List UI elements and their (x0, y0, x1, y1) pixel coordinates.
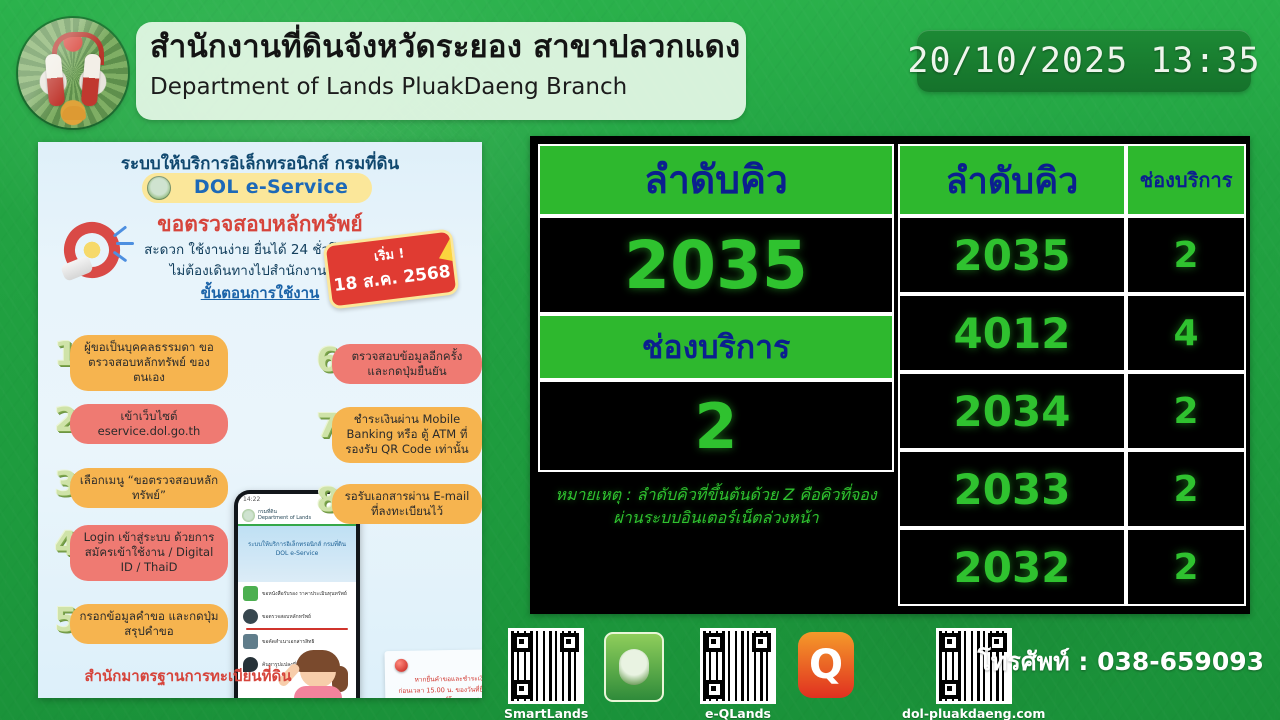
document-icon (243, 586, 258, 601)
phone-status-time: 14:22 (243, 496, 260, 506)
phone-menu-item: ขอหนังสือรับรอง ราคาประเมินทุนทรัพย์ (238, 582, 356, 605)
datetime-display: 20/10/2025 13:35 (917, 30, 1251, 92)
megaphone-icon (56, 218, 134, 288)
step-text: เข้าเว็บไซต์ eservice.dol.go.th (70, 404, 228, 444)
queue-row-counter: 2 (1126, 528, 1246, 606)
now-serving-counter-value: 2 (538, 380, 894, 472)
phone-hero-line-2: DOL e-Service (238, 549, 356, 558)
now-serving-panel: ลำดับคิว 2035 ช่องบริการ 2 หมายเหตุ : ลำ… (538, 144, 894, 610)
contact-phone-number: โทรศัพท์ : 038-659093 (978, 642, 1265, 682)
queue-row-counter: 4 (1126, 294, 1246, 372)
dol-seal-icon (147, 176, 171, 200)
page-footer: SmartLands e-QLands Q dol-pluakdaeng.com (0, 618, 1280, 720)
smartlands-app-icon[interactable] (604, 632, 664, 702)
qr-label: e-QLands (705, 706, 771, 720)
queue-row-number: 2034 (898, 372, 1126, 450)
step-text: เลือกเมนู “ขอตรวจสอบหลักทรัพย์” (70, 468, 228, 508)
qr-label: SmartLands (504, 706, 588, 720)
queue-row-number: 2032 (898, 528, 1126, 606)
qr-code-icon[interactable] (508, 628, 584, 704)
step-text: Login เข้าสู่ระบบ ด้วยการสมัครเข้าใช้งาน… (70, 525, 228, 581)
now-serving-queue-header: ลำดับคิว (538, 144, 894, 216)
qr-label: dol-pluakdaeng.com (902, 706, 1045, 720)
step-text: รอรับเอกสารผ่าน E-mail ที่ลงทะเบียนไว้ (332, 484, 482, 524)
phone-app-logo-icon (242, 509, 255, 522)
queue-board: ลำดับคิว 2035 ช่องบริการ 2 หมายเหตุ : ลำ… (530, 136, 1250, 614)
queue-list-header-queue: ลำดับคิว (898, 144, 1126, 216)
queue-row-number: 2035 (898, 216, 1126, 294)
now-serving-queue-value: 2035 (538, 216, 894, 314)
qr-block-smartlands[interactable]: SmartLands (504, 628, 588, 720)
queue-list-table: ลำดับคิว ช่องบริการ 2035 2 4012 4 2034 2… (898, 144, 1246, 610)
department-of-lands-emblem-icon (18, 18, 128, 128)
queue-row-counter: 2 (1126, 372, 1246, 450)
queue-row-number: 4012 (898, 294, 1126, 372)
page-header: สำนักงานที่ดินจังหวัดระยอง สาขาปลวกแดง D… (0, 0, 1280, 130)
datetime-text: 20/10/2025 13:35 (907, 41, 1260, 81)
qr-code-icon[interactable] (700, 628, 776, 704)
now-serving-counter-header: ช่องบริการ (538, 314, 894, 380)
step-text: ตรวจสอบข้อมูลอีกครั้ง และกดปุ่มยืนยัน (332, 344, 482, 384)
queue-display-screen: สำนักงานที่ดินจังหวัดระยอง สาขาปลวกแดง D… (0, 0, 1280, 720)
eservice-poster: ระบบให้บริการอิเล็กทรอนิกส์ กรมที่ดิน DO… (38, 142, 482, 698)
queue-row-counter: 2 (1126, 450, 1246, 528)
qr-block-eqlands[interactable]: e-QLands (700, 628, 776, 720)
phone-menu-label: ขอหนังสือรับรอง ราคาประเมินทุนทรัพย์ (262, 590, 347, 598)
step-text: ชำระเงินผ่าน Mobile Banking หรือ ตู้ ATM… (332, 407, 482, 463)
queue-list-header-counter: ช่องบริการ (1126, 144, 1246, 216)
poster-brand-pill: DOL e-Service (142, 173, 372, 203)
queue-note: หมายเหตุ : ลำดับคิวที่ขึ้นต้นด้วย Z คือค… (544, 484, 888, 529)
office-title-box: สำนักงานที่ดินจังหวัดระยอง สาขาปลวกแดง D… (136, 22, 746, 120)
queue-row-counter: 2 (1126, 216, 1246, 294)
office-title-thai: สำนักงานที่ดินจังหวัดระยอง สาขาปลวกแดง (150, 28, 736, 67)
poster-brand-text: DOL e-Service (176, 176, 366, 198)
eqlands-app-icon[interactable]: Q (798, 632, 854, 698)
phone-hero-line-1: ระบบให้บริการอิเล็กทรอนิกส์ กรมที่ดิน (238, 540, 356, 549)
office-title-english: Department of Lands PluakDaeng Branch (150, 74, 736, 100)
step-text: ผู้ขอเป็นบุคคลธรรมดา ขอตรวจสอบหลักทรัพย์… (70, 335, 228, 391)
queue-row-number: 2033 (898, 450, 1126, 528)
